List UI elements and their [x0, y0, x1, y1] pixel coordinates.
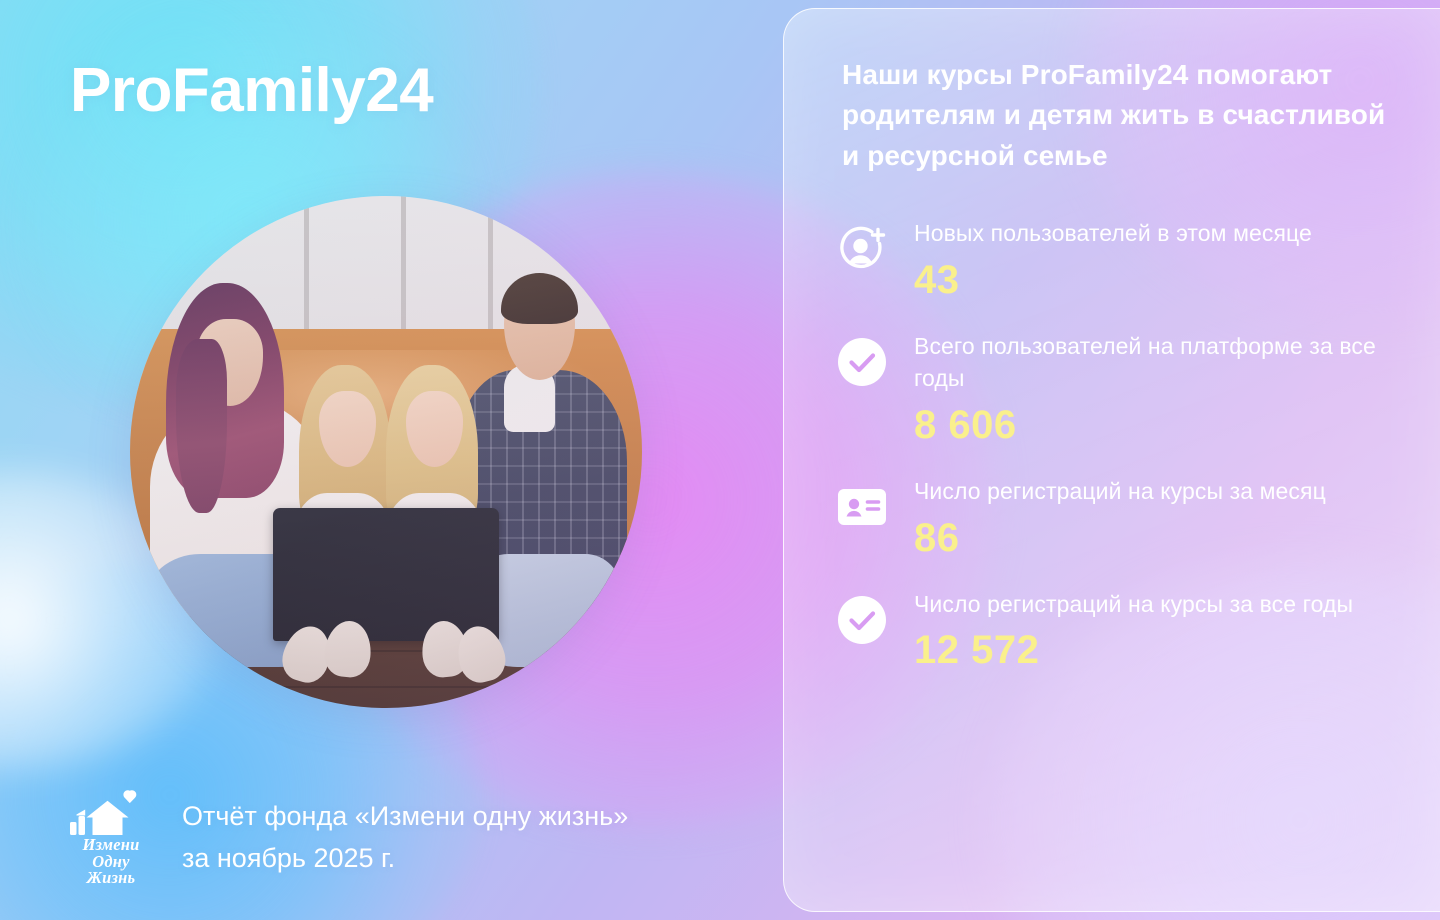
stats-list: Новых пользователей в этом месяце 43 Все…: [836, 217, 1416, 700]
stat-label: Число регистраций на курсы за все годы: [914, 588, 1416, 621]
fund-logo-line-3: Жизнь: [82, 870, 139, 887]
stat-row: Всего пользователей на платформе за все …: [836, 330, 1416, 447]
stat-value: 86: [914, 516, 1416, 560]
fund-logo-wordmark: Измени Одну Жизнь: [82, 837, 139, 887]
infographic-canvas: ProFamily24: [0, 0, 1440, 920]
stat-body: Число регистраций на курсы за месяц 86: [914, 475, 1416, 560]
family-photo-circle: [130, 196, 642, 708]
footer-caption-line-2: за ноябрь 2025 г.: [182, 838, 628, 880]
check-circle-icon: [836, 594, 888, 646]
stat-value: 43: [914, 258, 1416, 302]
stat-row: Число регистраций на курсы за все годы 1…: [836, 588, 1416, 673]
fund-logo: Измени Одну Жизнь: [62, 790, 160, 887]
add-user-icon: [836, 223, 888, 275]
stats-panel: Наши курсы ProFamily24 помогают родителя…: [783, 8, 1440, 912]
footer-caption: Отчёт фонда «Измени одну жизнь» за ноябр…: [182, 796, 628, 880]
panel-heading: Наши курсы ProFamily24 помогают родителя…: [842, 55, 1402, 176]
house-heart-chart-icon: [68, 790, 154, 836]
stat-body: Новых пользователей в этом месяце 43: [914, 217, 1416, 302]
stat-label: Всего пользователей на платформе за все …: [914, 330, 1416, 395]
check-circle-icon: [836, 336, 888, 388]
stat-label: Число регистраций на курсы за месяц: [914, 475, 1416, 508]
stat-label: Новых пользователей в этом месяце: [914, 217, 1416, 250]
id-card-icon: [836, 481, 888, 533]
photo-color-tint: [130, 196, 642, 708]
footer-caption-line-1: Отчёт фонда «Измени одну жизнь»: [182, 796, 628, 838]
footer-block: Измени Одну Жизнь Отчёт фонда «Измени од…: [62, 790, 628, 887]
stat-row: Новых пользователей в этом месяце 43: [836, 217, 1416, 302]
stat-body: Число регистраций на курсы за все годы 1…: [914, 588, 1416, 673]
stat-body: Всего пользователей на платформе за все …: [914, 330, 1416, 447]
stat-value: 12 572: [914, 628, 1416, 672]
brand-logo-profamily24: ProFamily24: [70, 60, 433, 122]
stat-value: 8 606: [914, 403, 1416, 447]
stat-row: Число регистраций на курсы за месяц 86: [836, 475, 1416, 560]
